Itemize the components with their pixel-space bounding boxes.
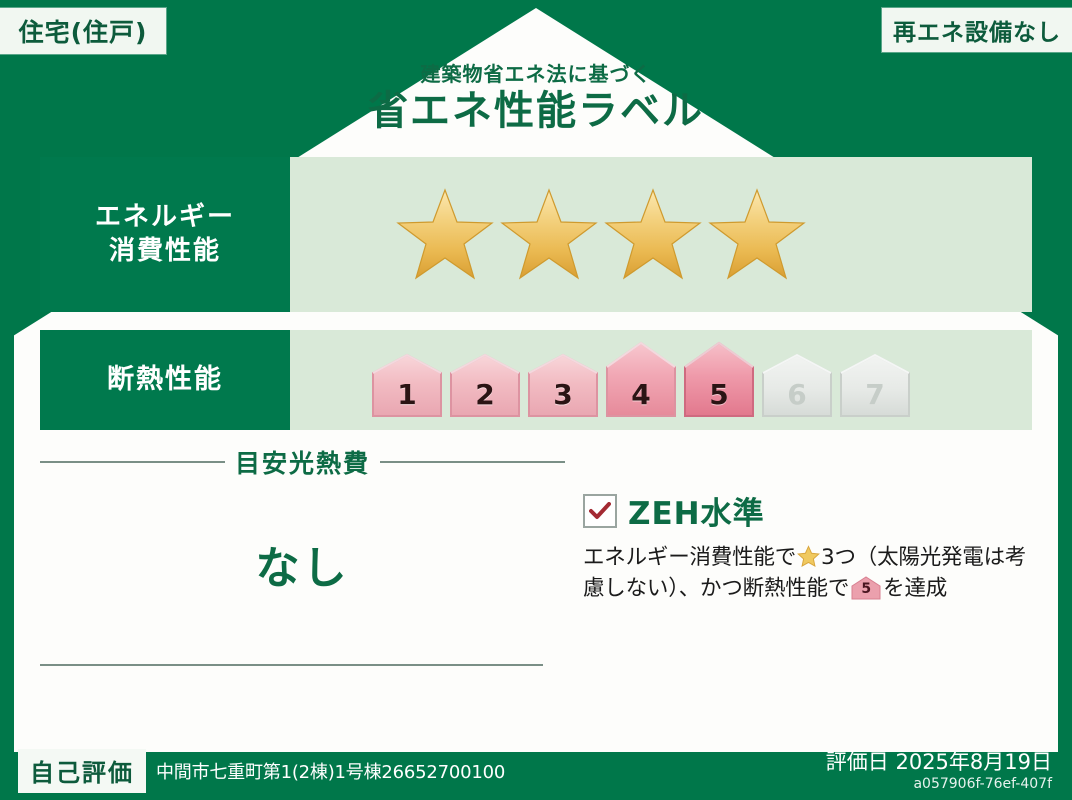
insulation-level-value: 7 [838,378,912,411]
label-subtitle: 建築物省エネ法に基づく [0,58,1072,87]
utility-cost-heading-text: 目安光熱費 [235,444,370,480]
utility-cost-bottom-rule [40,664,543,666]
footer-left: 自己評価 中間市七重町第1(2棟)1号棟26652700100 [0,749,826,793]
utility-cost-panel: 目安光熱費 なし [40,440,565,690]
property-address: 中間市七重町第1(2棟)1号棟26652700100 [156,758,505,784]
bottom-section: 目安光熱費 なし ZEH水準 エネルギー消費性能で 3つ（太陽光発電は考 [40,440,1032,690]
energy-performance-label-line1: エネルギー [95,201,235,235]
insulation-level-3: 3 [526,353,600,419]
star-icon [707,187,807,282]
insulation-level-value: 3 [526,378,600,411]
insulation-performance-label: 断熱性能 [40,330,290,430]
zeh-description-part1: エネルギー消費性能で [583,545,796,570]
insulation-performance-row: 断熱性能 1234567 [40,330,1032,430]
inline-house-value: 5 [851,579,881,599]
energy-performance-label: エネルギー 消費性能 [40,157,290,312]
zeh-title: ZEH水準 [628,488,765,533]
zeh-description-part3: を達成 [883,576,947,601]
inline-star-icon [797,545,820,568]
heading-rule-left [40,461,225,463]
zeh-description: エネルギー消費性能で 3つ（太陽光発電は考慮しない）、かつ断熱性能で 5を達成 [583,542,1031,604]
zeh-panel: ZEH水準 エネルギー消費性能で 3つ（太陽光発電は考慮しない）、かつ断熱性能で… [565,440,1032,690]
footer: 自己評価 中間市七重町第1(2棟)1号棟26652700100 評価日 2025… [0,742,1072,800]
energy-performance-row: エネルギー 消費性能 [40,157,1032,312]
insulation-level-7: 7 [838,353,912,419]
utility-cost-heading: 目安光熱費 [40,444,565,480]
zeh-checkbox[interactable] [583,494,617,528]
insulation-performance-value: 1234567 [290,330,1032,430]
energy-performance-label-line2: 消費性能 [109,235,221,269]
insulation-level-value: 6 [760,378,834,411]
star-icon [499,187,599,282]
heading-rule-right [380,461,565,463]
insulation-level-value: 2 [448,378,522,411]
footer-right: 評価日 2025年8月19日 a057906f-76ef-407f [826,750,1072,792]
inline-house-badge: 5 [851,576,881,600]
badge-self-assessment: 自己評価 [18,749,146,793]
insulation-level-2: 2 [448,353,522,419]
page-title: 省エネ性能ラベル [0,90,1072,132]
insulation-level-value: 4 [604,378,678,411]
header: 建築物省エネ法に基づく 省エネ性能ラベル [0,58,1072,132]
energy-performance-value [290,157,1032,312]
star-icon [395,187,495,282]
insulation-level-6: 6 [760,353,834,419]
document-id: a057906f-76ef-407f [826,776,1052,792]
zeh-title-row: ZEH水準 [583,488,1032,533]
insulation-level-scale: 1234567 [370,341,912,419]
zeh-description-star-count: 3つ（太陽光発電 [821,545,984,570]
insulation-level-4: 4 [604,341,678,419]
star-icon [603,187,703,282]
insulation-level-1: 1 [370,353,444,419]
badge-building-type: 住宅(住戸) [0,8,166,54]
insulation-level-value: 5 [682,378,756,411]
star-rating [395,187,807,282]
evaluation-date: 評価日 2025年8月19日 [826,750,1052,774]
insulation-level-value: 1 [370,378,444,411]
utility-cost-value: なし [40,532,565,596]
energy-performance-label: 住宅(住戸) 再エネ設備なし 建築物省エネ法に基づく 省エネ性能ラベル エネルギ… [0,0,1072,800]
insulation-level-5: 5 [682,341,756,419]
badge-renewable-equipment: 再エネ設備なし [882,8,1072,52]
